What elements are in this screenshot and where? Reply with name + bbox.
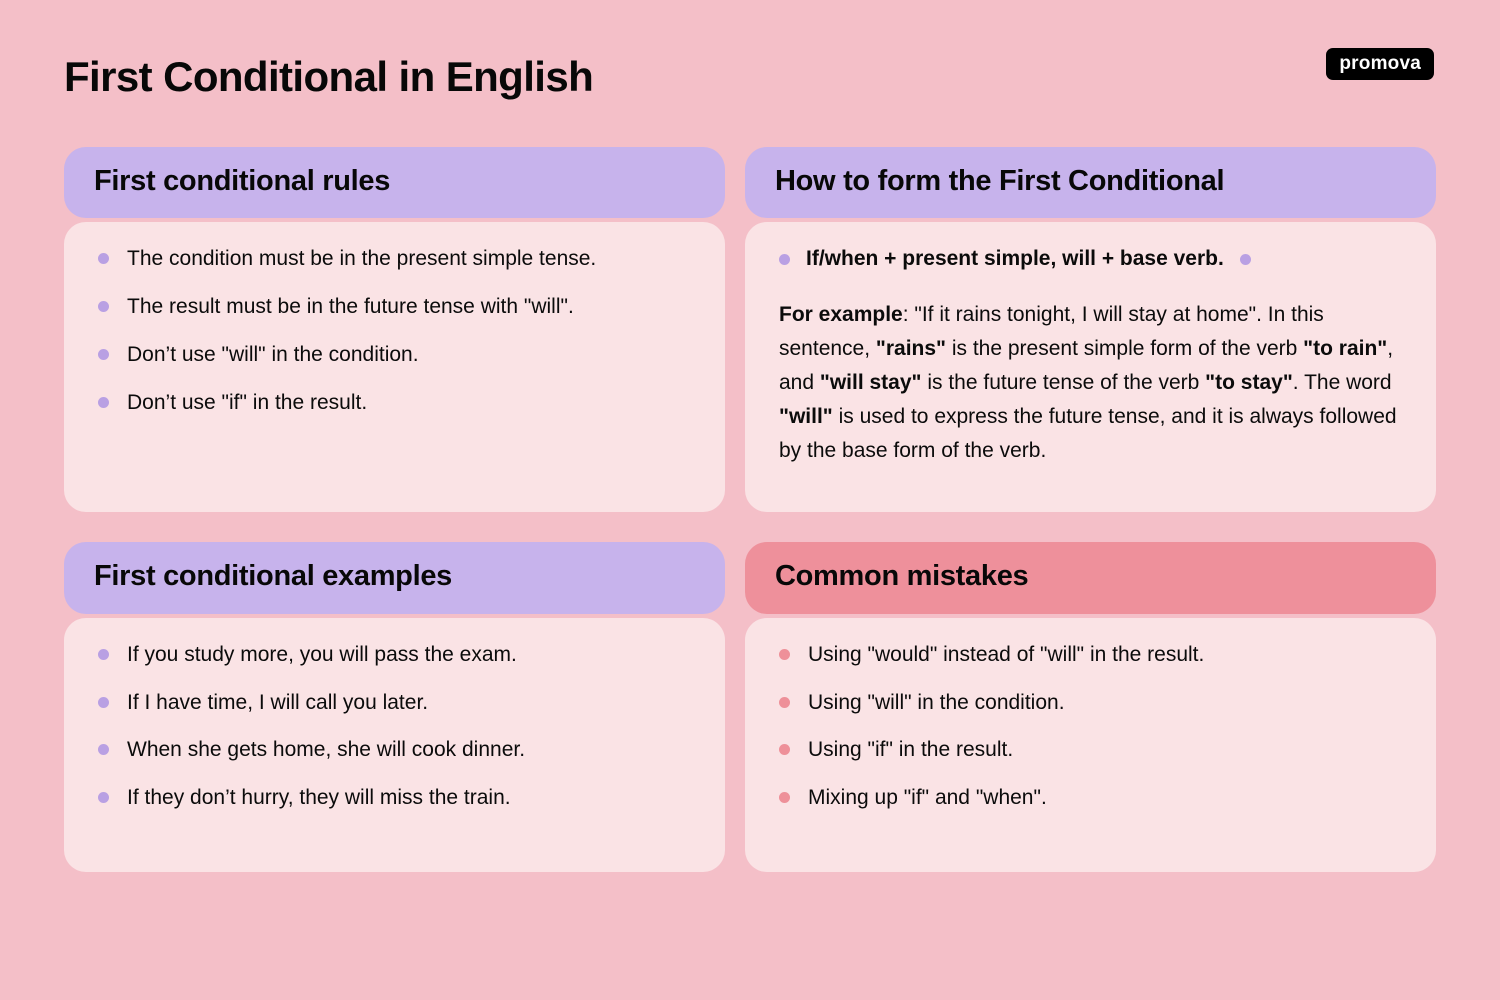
card-first-conditional-examples: First conditional examples If you study … bbox=[64, 542, 725, 871]
list-item-text: When she gets home, she will cook dinner… bbox=[127, 738, 525, 761]
list-item-text: If I have time, I will call you later. bbox=[127, 691, 428, 714]
list-item-text: Using "will" in the condition. bbox=[808, 691, 1065, 714]
list-item: Using "would" instead of "will" in the r… bbox=[775, 640, 1406, 670]
formula-text: If/when + present simple, will + base ve… bbox=[806, 244, 1224, 273]
example-label: For example bbox=[779, 303, 903, 326]
list-item-text: The result must be in the future tense w… bbox=[127, 295, 574, 318]
bullet-dot-icon bbox=[779, 649, 790, 660]
card-header-examples: First conditional examples bbox=[64, 542, 725, 613]
logo-text: promova bbox=[1339, 54, 1421, 73]
card-body-rules: The condition must be in the present sim… bbox=[64, 222, 725, 512]
list-item-text: Using "if" in the result. bbox=[808, 738, 1013, 761]
list-item: Using "if" in the result. bbox=[775, 735, 1406, 765]
list-item: Don’t use "if" in the result. bbox=[94, 388, 695, 418]
list-item: If I have time, I will call you later. bbox=[94, 688, 695, 718]
bullet-dot-icon bbox=[98, 253, 109, 264]
bullet-dot-icon-right bbox=[1240, 254, 1251, 265]
list-item-text: Using "would" instead of "will" in the r… bbox=[808, 643, 1204, 666]
explanation-rich: In this sentence, "rains" is the present… bbox=[779, 303, 1397, 462]
list-item-text: Mixing up "if" and "when". bbox=[808, 786, 1047, 809]
card-header-mistakes: Common mistakes bbox=[745, 542, 1436, 613]
card-body-mistakes: Using "would" instead of "will" in the r… bbox=[745, 618, 1436, 872]
example-sentence: : "If it rains tonight, I will stay at h… bbox=[903, 303, 1262, 326]
card-how-to-form: How to form the First Conditional If/whe… bbox=[745, 147, 1436, 512]
bullet-dot-icon bbox=[779, 697, 790, 708]
list-item: The result must be in the future tense w… bbox=[94, 292, 695, 322]
infographic-page: First Conditional in English promova Fir… bbox=[0, 0, 1500, 1000]
card-body-examples: If you study more, you will pass the exa… bbox=[64, 618, 725, 872]
card-header-rules: First conditional rules bbox=[64, 147, 725, 218]
card-header-how-to-form: How to form the First Conditional bbox=[745, 147, 1436, 218]
bullet-dot-icon bbox=[98, 349, 109, 360]
card-title-mistakes: Common mistakes bbox=[775, 560, 1028, 593]
card-title-examples: First conditional examples bbox=[94, 560, 452, 593]
examples-list: If you study more, you will pass the exa… bbox=[94, 640, 695, 813]
card-title-rules: First conditional rules bbox=[94, 165, 390, 198]
list-item-text: The condition must be in the present sim… bbox=[127, 247, 596, 270]
bullet-dot-icon-left bbox=[779, 254, 790, 265]
bullet-dot-icon bbox=[98, 649, 109, 660]
card-first-conditional-rules: First conditional rules The condition mu… bbox=[64, 147, 725, 512]
card-grid: First conditional rules The condition mu… bbox=[64, 147, 1436, 872]
list-item: Using "will" in the condition. bbox=[775, 688, 1406, 718]
bullet-dot-icon bbox=[98, 697, 109, 708]
list-item: If you study more, you will pass the exa… bbox=[94, 640, 695, 670]
list-item-text: Don’t use "if" in the result. bbox=[127, 391, 367, 414]
explanation-paragraph: For example: "If it rains tonight, I wil… bbox=[775, 298, 1406, 468]
list-item: Mixing up "if" and "when". bbox=[775, 783, 1406, 813]
card-title-how-to-form: How to form the First Conditional bbox=[775, 165, 1224, 198]
list-item: If they don’t hurry, they will miss the … bbox=[94, 783, 695, 813]
list-item: When she gets home, she will cook dinner… bbox=[94, 735, 695, 765]
bullet-dot-icon bbox=[98, 397, 109, 408]
bullet-dot-icon bbox=[779, 744, 790, 755]
list-item-text: If they don’t hurry, they will miss the … bbox=[127, 786, 511, 809]
rules-list: The condition must be in the present sim… bbox=[94, 244, 695, 417]
mistakes-list: Using "would" instead of "will" in the r… bbox=[775, 640, 1406, 813]
card-body-how-to-form: If/when + present simple, will + base ve… bbox=[745, 222, 1436, 512]
list-item-text: If you study more, you will pass the exa… bbox=[127, 643, 517, 666]
bullet-dot-icon bbox=[98, 744, 109, 755]
bullet-dot-icon bbox=[98, 301, 109, 312]
card-common-mistakes: Common mistakes Using "would" instead of… bbox=[745, 542, 1436, 871]
bullet-dot-icon bbox=[98, 792, 109, 803]
page-title: First Conditional in English bbox=[64, 54, 593, 100]
list-item: Don’t use "will" in the condition. bbox=[94, 340, 695, 370]
list-item: The condition must be in the present sim… bbox=[94, 244, 695, 274]
bullet-dot-icon bbox=[779, 792, 790, 803]
formula-line: If/when + present simple, will + base ve… bbox=[775, 244, 1406, 273]
list-item-text: Don’t use "will" in the condition. bbox=[127, 343, 419, 366]
promova-logo: promova bbox=[1326, 48, 1434, 80]
